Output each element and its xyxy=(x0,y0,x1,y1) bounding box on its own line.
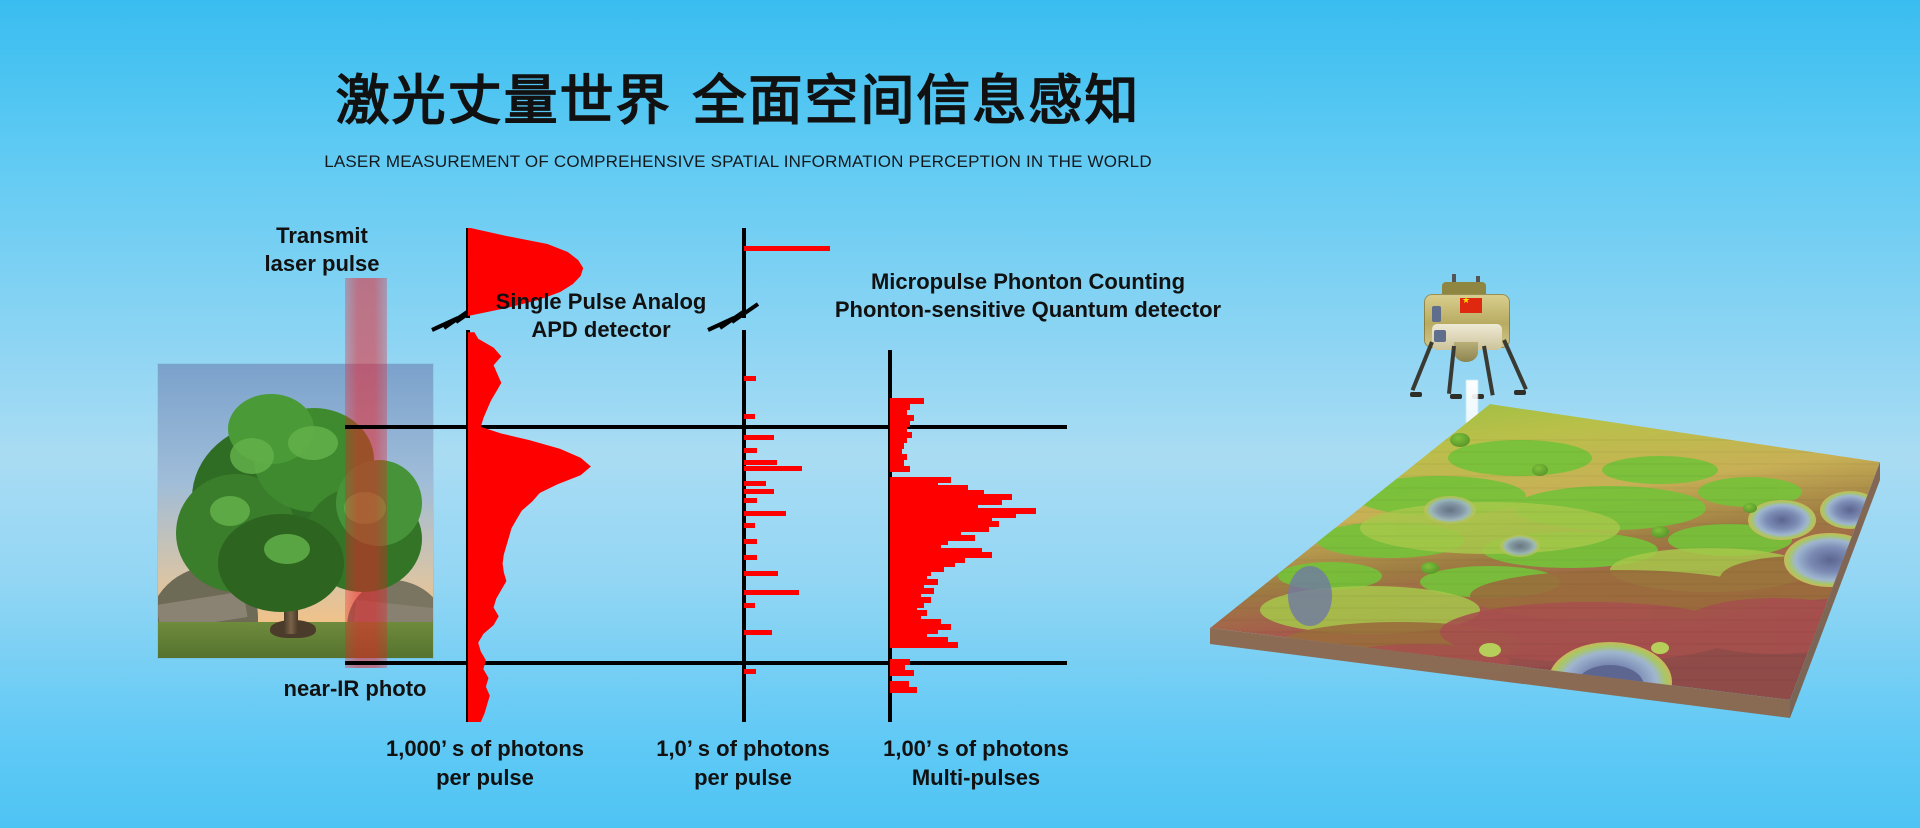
lander-leg xyxy=(1447,346,1456,394)
photo-foliage-highlight xyxy=(344,492,386,524)
caption-photons-per-pulse-analog: 1,000’ s of photons per pulse xyxy=(340,735,630,792)
photon-return-bar xyxy=(890,466,910,472)
lander-footpad xyxy=(1450,394,1462,399)
lander-instrument-panel xyxy=(1434,330,1446,342)
photo-foliage-highlight xyxy=(230,438,274,474)
transmit-laser-pulse-label: Transmit laser pulse xyxy=(232,222,412,278)
lander-leg xyxy=(1502,339,1528,390)
chart3-bars xyxy=(890,350,1070,722)
photon-return-bar xyxy=(890,460,904,466)
photon-return-bar xyxy=(744,448,757,453)
photon-return-bar xyxy=(744,555,757,560)
photon-return-bar xyxy=(744,590,799,595)
caption-photons-multi-pulses: 1,00’ s of photons Multi-pulses xyxy=(856,735,1096,792)
photon-return-bar xyxy=(744,571,778,576)
page-subtitle: LASER MEASUREMENT OF COMPREHENSIVE SPATI… xyxy=(0,152,1476,172)
photon-return-bar xyxy=(744,376,756,381)
photon-return-bar xyxy=(744,414,755,419)
photo-foliage-highlight xyxy=(210,496,250,526)
lander-instrument-panel xyxy=(1432,306,1441,322)
photon-return-bar xyxy=(744,630,772,635)
photon-return-bar xyxy=(890,687,917,693)
photon-return-bar xyxy=(890,642,958,648)
photon-return-bar xyxy=(744,466,802,471)
lander-leg xyxy=(1411,341,1434,391)
photon-return-bar xyxy=(744,523,755,528)
lander-leg xyxy=(1482,346,1495,396)
caption-photons-per-pulse-sparse: 1,0’ s of photons per pulse xyxy=(628,735,858,792)
waveform-fill xyxy=(468,332,591,722)
near-ir-tree-photo xyxy=(158,364,433,658)
near-ir-photo-label: near-IR photo xyxy=(250,675,460,703)
lunar-lidar-scene xyxy=(1190,280,1890,750)
terrain-svg xyxy=(1190,400,1890,750)
china-flag-icon xyxy=(1460,298,1482,313)
page-title: 激光丈量世界 全面空间信息感知 xyxy=(0,56,1476,135)
photon-return-bar xyxy=(744,435,774,440)
photon-return-bar xyxy=(890,670,914,676)
photon-return-bar xyxy=(744,669,756,674)
photon-return-bar xyxy=(744,481,766,486)
photon-return-bar xyxy=(744,539,757,544)
photon-return-bar xyxy=(744,603,755,608)
photo-foliage-highlight xyxy=(288,426,338,460)
photo-foliage-highlight xyxy=(264,534,310,564)
photon-return-bar xyxy=(744,489,774,494)
lander-footpad xyxy=(1410,392,1422,397)
photon-return-bar xyxy=(744,460,777,465)
colorized-dem-terrain xyxy=(1190,400,1890,750)
micropulse-detector-label: Micropulse Phonton Counting Phonton-sens… xyxy=(818,268,1238,324)
photon-return-bar xyxy=(744,498,757,503)
infographic-canvas: 激光丈量世界 全面空间信息感知 LASER MEASUREMENT OF COM… xyxy=(0,0,1920,828)
photon-return-bar xyxy=(744,246,830,251)
lander-engine-nozzle xyxy=(1454,342,1478,362)
apd-detector-label: Single Pulse Analog APD detector xyxy=(466,288,736,344)
photon-return-bar xyxy=(744,511,786,516)
lander-footpad xyxy=(1514,390,1526,395)
